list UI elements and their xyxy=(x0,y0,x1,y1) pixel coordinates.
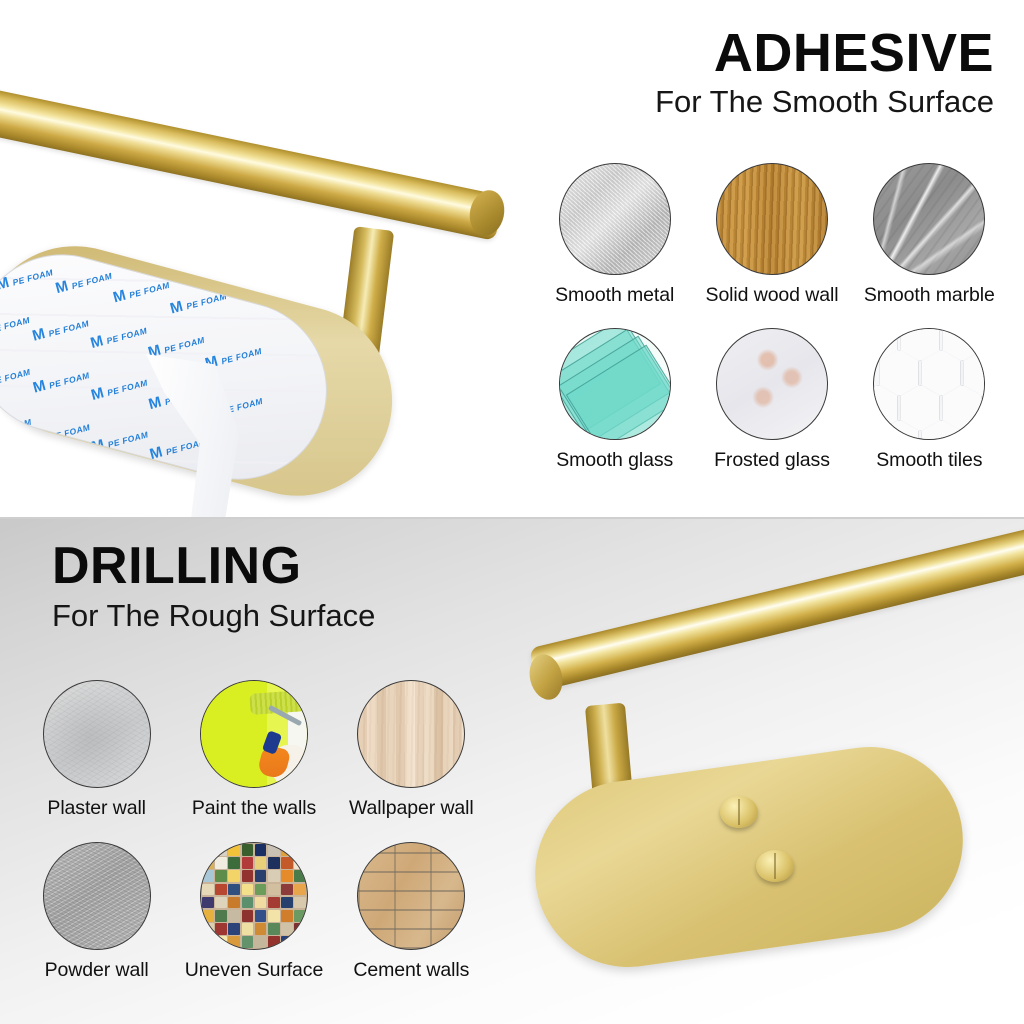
panel-divider xyxy=(0,517,1024,519)
surface-label: Frosted glass xyxy=(714,449,830,472)
mosaic-tile xyxy=(228,844,240,856)
pe-foam-tape-mark: M PE FOAM xyxy=(0,362,32,393)
mosaic-tile xyxy=(255,857,267,869)
mosaic-tile xyxy=(242,844,254,856)
solid-wood-wall-swatch-icon xyxy=(716,163,828,275)
mosaic-tile xyxy=(202,884,214,896)
pe-foam-tape-mark: M PE FOAM xyxy=(89,373,149,404)
cement-walls-swatch-icon xyxy=(357,842,465,950)
mosaic-tile xyxy=(255,870,267,882)
mosaic-tile xyxy=(202,897,214,909)
mosaic-tile xyxy=(255,936,267,948)
mosaic-tile xyxy=(294,870,306,882)
adhesive-subtitle: For The Smooth Surface xyxy=(655,83,994,122)
surface-label: Smooth metal xyxy=(555,284,674,307)
surface-label: Wallpaper wall xyxy=(349,797,474,820)
mosaic-tile xyxy=(294,936,306,948)
pe-foam-tape-mark: M PE FOAM xyxy=(89,321,149,352)
surface-item-plaster-wall[interactable]: Plaster wall xyxy=(18,680,175,842)
surface-label: Smooth marble xyxy=(864,284,995,307)
mosaic-tile xyxy=(215,870,227,882)
mosaic-tile xyxy=(268,844,280,856)
pe-foam-tape-mark: M PE FOAM xyxy=(31,313,91,344)
infographic-root: M PE FOAMM PE FOAMM PE FOAMM PE FOAMM PE… xyxy=(0,0,1024,1024)
mosaic-tile xyxy=(215,884,227,896)
mosaic-tile xyxy=(294,910,306,922)
adhesive-panel: M PE FOAMM PE FOAMM PE FOAMM PE FOAMM PE… xyxy=(0,0,1024,518)
surface-label: Smooth tiles xyxy=(876,449,982,472)
adhesive-surface-grid: Smooth metal Solid wood wall Smooth marb… xyxy=(536,163,1008,493)
mosaic-tile xyxy=(281,936,293,948)
pe-foam-tape-mark: M PE FOAM xyxy=(111,275,171,306)
drilling-product-photo xyxy=(506,596,1024,1024)
surface-item-cement-walls[interactable]: Cement walls xyxy=(333,842,490,1004)
paint-the-walls-swatch-icon xyxy=(200,680,308,788)
hex-tile xyxy=(984,328,985,361)
mosaic-tile xyxy=(268,910,280,922)
mosaic-tile xyxy=(228,857,240,869)
mosaic-tile xyxy=(268,936,280,948)
mosaic-tile xyxy=(268,857,280,869)
mosaic-tile xyxy=(294,857,306,869)
mosaic-tile xyxy=(281,910,293,922)
smooth-tiles-swatch-icon xyxy=(873,328,985,440)
mosaic-tile xyxy=(202,936,214,948)
hex-tile xyxy=(984,385,985,431)
surface-item-solid-wood-wall[interactable]: Solid wood wall xyxy=(693,163,850,328)
mosaic-tile xyxy=(228,910,240,922)
drilling-panel: DRILLING For The Rough Surface Plaster w… xyxy=(0,518,1024,1024)
pe-foam-tape-mark: M PE FOAM xyxy=(0,262,55,293)
frosted-glass-swatch-icon xyxy=(716,328,828,440)
mosaic-tile xyxy=(242,857,254,869)
mosaic-tile xyxy=(202,910,214,922)
drilling-surface-grid: Plaster wall Paint the walls Wallpaper w… xyxy=(18,680,490,1004)
surface-label: Paint the walls xyxy=(192,797,316,820)
drilling-title: DRILLING xyxy=(52,540,375,593)
pe-foam-tape-mark: M PE FOAM xyxy=(32,417,92,448)
mosaic-tile xyxy=(228,923,240,935)
mosaic-tile xyxy=(215,844,227,856)
mosaic-tile xyxy=(242,870,254,882)
gold-towel-bar xyxy=(0,84,504,240)
mosaic-tile xyxy=(281,844,293,856)
mosaic-tile xyxy=(294,923,306,935)
mosaic-tile xyxy=(281,884,293,896)
mosaic-tile xyxy=(255,910,267,922)
pe-foam-tape-mark: M PE FOAM xyxy=(0,310,31,341)
plaster-wall-swatch-icon xyxy=(43,680,151,788)
surface-label: Solid wood wall xyxy=(706,284,839,307)
surface-item-smooth-metal[interactable]: Smooth metal xyxy=(536,163,693,328)
screw-head-1 xyxy=(720,796,758,828)
mosaic-tile xyxy=(202,923,214,935)
surface-item-wallpaper-wall[interactable]: Wallpaper wall xyxy=(333,680,490,842)
mosaic-tile xyxy=(215,923,227,935)
mosaic-tile xyxy=(242,897,254,909)
mosaic-tile xyxy=(228,936,240,948)
mosaic-tile xyxy=(268,897,280,909)
screw-head-2 xyxy=(756,850,794,882)
mosaic-tile xyxy=(228,870,240,882)
smooth-glass-swatch-icon xyxy=(559,328,671,440)
adhesive-product-photo: M PE FOAMM PE FOAMM PE FOAMM PE FOAMM PE… xyxy=(0,38,546,498)
surface-item-powder-wall[interactable]: Powder wall xyxy=(18,842,175,1004)
mosaic-tile xyxy=(281,870,293,882)
mosaic-tile xyxy=(268,923,280,935)
mosaic-tile xyxy=(242,936,254,948)
mosaic-tile xyxy=(228,884,240,896)
pe-foam-tape-mark: M PE FOAM xyxy=(90,425,150,456)
mosaic-tile xyxy=(242,923,254,935)
pe-foam-tape-mark: M PE FOAM xyxy=(54,266,114,297)
adhesive-title: ADHESIVE xyxy=(655,26,994,81)
surface-label: Smooth glass xyxy=(556,449,673,472)
smooth-metal-swatch-icon xyxy=(559,163,671,275)
mosaic-tile xyxy=(268,870,280,882)
surface-item-paint-the-walls[interactable]: Paint the walls xyxy=(175,680,332,842)
surface-label: Uneven Surface xyxy=(185,959,323,982)
surface-label: Cement walls xyxy=(353,959,469,982)
mosaic-tile xyxy=(228,897,240,909)
mosaic-tile xyxy=(281,923,293,935)
powder-wall-swatch-icon xyxy=(43,842,151,950)
mosaic-tile xyxy=(215,936,227,948)
gold-towel-bar xyxy=(529,527,1024,691)
surface-label: Powder wall xyxy=(45,959,149,982)
mosaic-tile xyxy=(281,857,293,869)
mosaic-tile xyxy=(268,884,280,896)
mosaic-tile xyxy=(255,923,267,935)
surface-label: Plaster wall xyxy=(47,797,146,820)
mosaic-tile xyxy=(255,897,267,909)
mosaic-tile xyxy=(215,857,227,869)
adhesive-heading-block: ADHESIVE For The Smooth Surface xyxy=(655,26,994,122)
drilling-subtitle: For The Rough Surface xyxy=(52,597,375,636)
mosaic-tile xyxy=(255,844,267,856)
mosaic-tile xyxy=(294,844,306,856)
surface-item-smooth-marble[interactable]: Smooth marble xyxy=(851,163,1008,328)
surface-item-smooth-glass[interactable]: Smooth glass xyxy=(536,328,693,493)
uneven-surface-swatch-icon xyxy=(200,842,308,950)
pe-foam-tape-mark: M PE FOAM xyxy=(31,365,91,396)
mosaic-tile xyxy=(202,870,214,882)
mosaic-tile xyxy=(281,897,293,909)
mosaic-tile xyxy=(215,897,227,909)
wallpaper-wall-swatch-icon xyxy=(357,680,465,788)
surface-item-uneven-surface[interactable]: Uneven Surface xyxy=(175,842,332,1004)
mosaic-tile xyxy=(202,844,214,856)
mosaic-tile xyxy=(215,910,227,922)
mosaic-tile xyxy=(202,857,214,869)
drilling-heading-block: DRILLING For The Rough Surface xyxy=(52,540,375,636)
mosaic-tile xyxy=(242,884,254,896)
mosaic-tile xyxy=(294,884,306,896)
surface-item-frosted-glass[interactable]: Frosted glass xyxy=(693,328,850,493)
pe-foam-tape-mark: M PE FOAM xyxy=(0,412,33,443)
mosaic-tile xyxy=(242,910,254,922)
smooth-marble-swatch-icon xyxy=(873,163,985,275)
mosaic-tile xyxy=(255,884,267,896)
mosaic-tile xyxy=(294,897,306,909)
surface-item-smooth-tiles[interactable]: Smooth tiles xyxy=(851,328,1008,493)
